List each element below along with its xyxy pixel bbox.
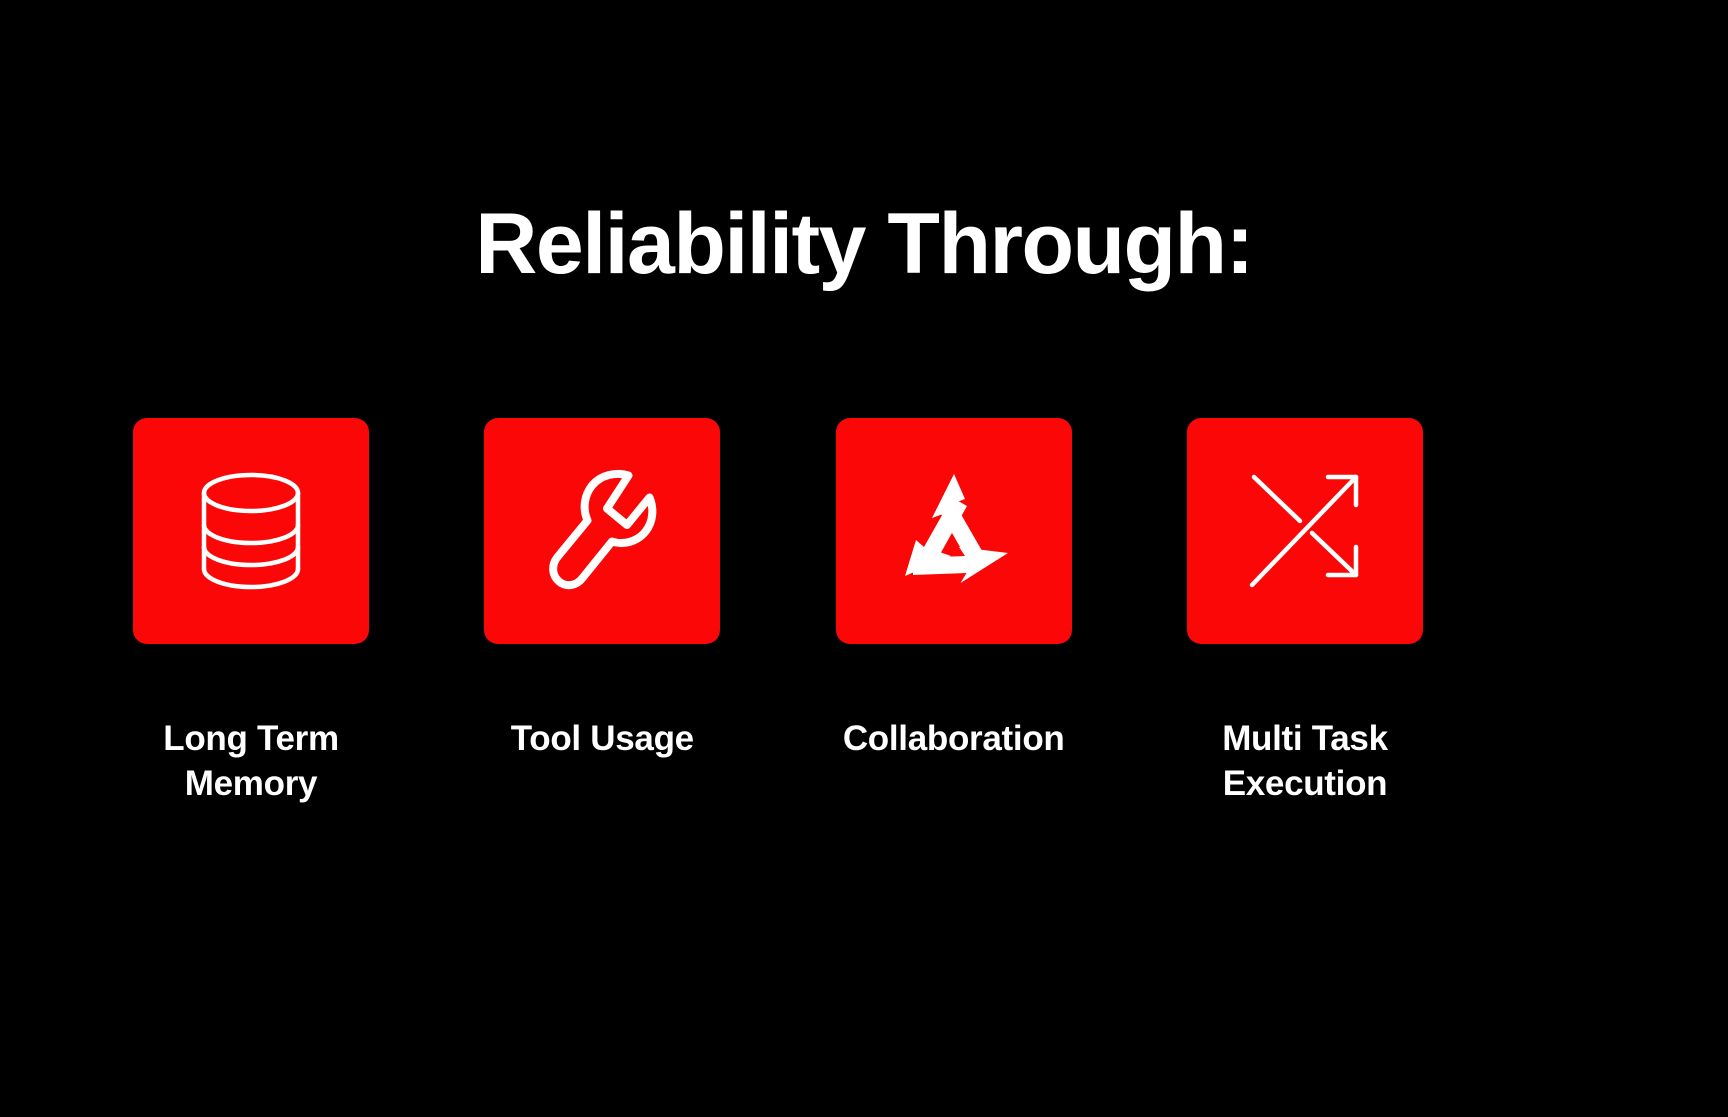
- feature-card-label: Multi Task Execution: [1222, 716, 1388, 806]
- feature-card-label: Long Term Memory: [163, 716, 339, 806]
- icon-tile-collaboration[interactable]: [836, 418, 1072, 644]
- wrench-icon: [540, 469, 664, 593]
- feature-card-row: Long Term Memory Tool Usage: [133, 418, 1423, 806]
- feature-card-label: Collaboration: [843, 716, 1065, 761]
- icon-tile-long-term-memory[interactable]: [133, 418, 369, 644]
- cross-arrows-icon: [1246, 471, 1364, 591]
- slide-canvas: Reliability Through: Long Term Memory: [0, 0, 1728, 1117]
- recycle-arrows-icon: [891, 472, 1017, 590]
- feature-card-collaboration[interactable]: Collaboration: [836, 418, 1072, 761]
- page-title: Reliability Through:: [0, 196, 1728, 292]
- icon-tile-multi-task-execution[interactable]: [1187, 418, 1423, 644]
- database-icon: [196, 471, 306, 591]
- feature-card-multi-task-execution[interactable]: Multi Task Execution: [1187, 418, 1423, 806]
- feature-card-long-term-memory[interactable]: Long Term Memory: [133, 418, 369, 806]
- feature-card-label: Tool Usage: [511, 716, 694, 761]
- icon-tile-tool-usage[interactable]: [484, 418, 720, 644]
- feature-card-tool-usage[interactable]: Tool Usage: [484, 418, 720, 761]
